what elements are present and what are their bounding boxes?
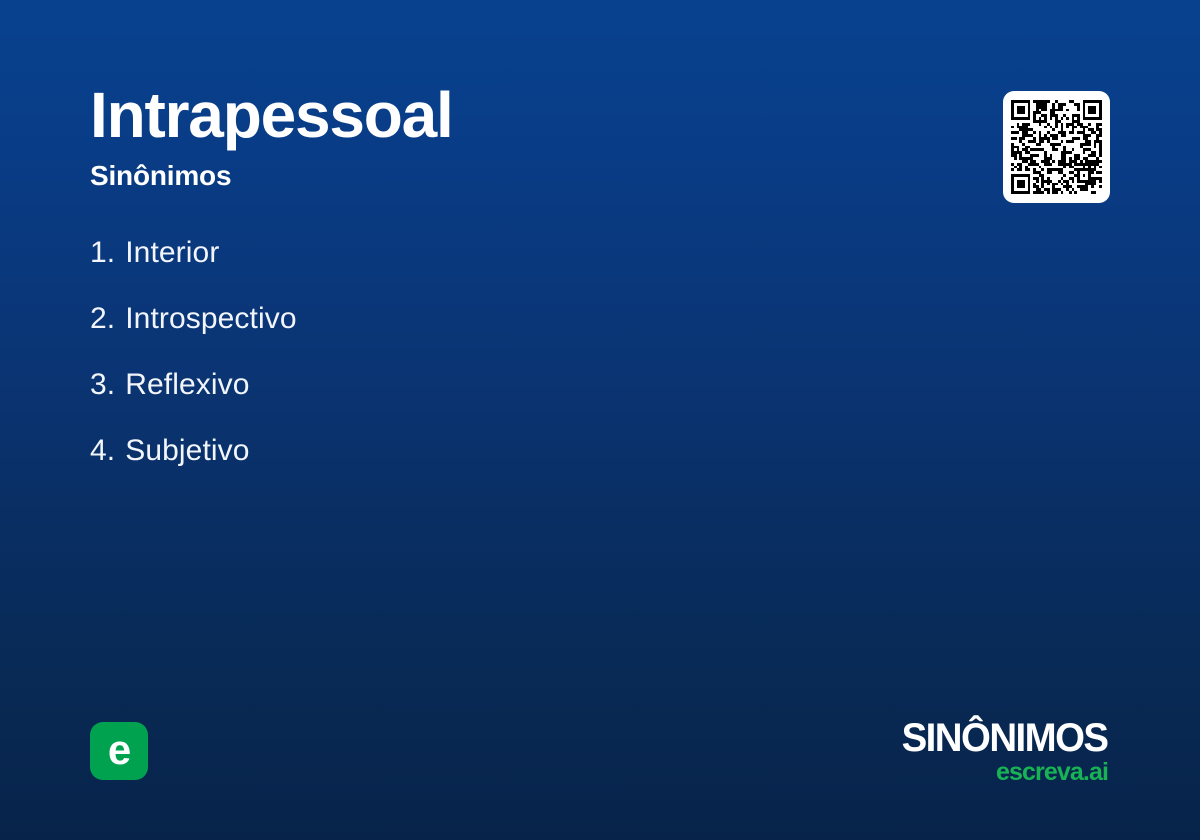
list-item: 3. Reflexivo (90, 368, 297, 434)
synonyms-list: 1. Interior 2. Introspectivo 3. Reflexiv… (90, 236, 297, 500)
qr-code-icon[interactable] (1003, 91, 1110, 203)
list-item-label: Subjetivo (125, 434, 249, 468)
brand-wordmark: SINÔNIMOS escreva.ai (893, 718, 1108, 785)
list-item: 2. Introspectivo (90, 302, 297, 368)
list-item-label: Interior (125, 236, 219, 270)
qr-code-matrix (1011, 100, 1102, 194)
list-item-index: 2. (90, 302, 115, 336)
list-item-index: 3. (90, 368, 115, 402)
list-item-index: 4. (90, 434, 115, 468)
escreva-logo-glyph: e (108, 729, 130, 771)
list-item-label: Introspectivo (125, 302, 296, 336)
escreva-logo-icon[interactable]: e (90, 722, 148, 780)
list-item: 1. Interior (90, 236, 297, 302)
brand-wordmark-subtitle: escreva.ai (893, 760, 1108, 785)
list-item-index: 1. (90, 236, 115, 270)
page-title: Intrapessoal (90, 82, 453, 149)
header: Intrapessoal Sinônimos (90, 82, 453, 191)
list-item-label: Reflexivo (125, 368, 249, 402)
synonym-card: Intrapessoal Sinônimos 1. Interior 2. In… (0, 0, 1200, 840)
brand-wordmark-title: SINÔNIMOS (902, 718, 1108, 758)
page-subtitle: Sinônimos (90, 161, 453, 192)
list-item: 4. Subjetivo (90, 434, 297, 500)
